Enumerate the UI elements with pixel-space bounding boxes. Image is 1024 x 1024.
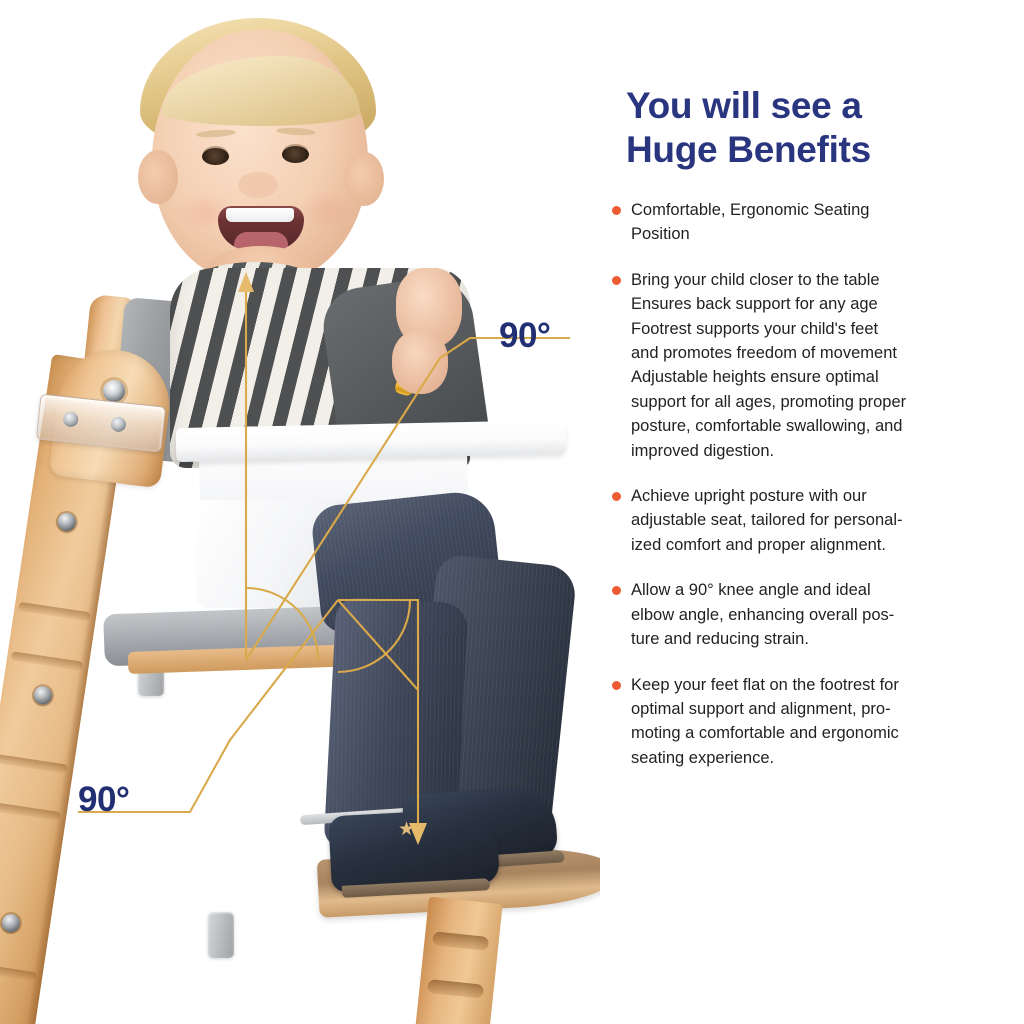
bracket-bolt-left — [62, 411, 78, 427]
seat-slider-clip-lower — [208, 912, 234, 958]
photo-stage: ★ — [0, 0, 600, 1024]
chair-front-leg — [411, 897, 502, 1024]
angle-label-knee: 90° — [78, 780, 129, 820]
boot-star-icon: ★ — [398, 820, 415, 839]
benefit-item-1: Comfortable, Ergonomic Seating Position — [612, 198, 962, 247]
front-leg-notch-1 — [432, 931, 489, 951]
infographic-page: ★ — [0, 0, 1024, 1024]
child-hand-lower — [392, 330, 448, 394]
benefit-text-2: Bring your child closer to the table Ens… — [631, 268, 962, 463]
product-photo: ★ — [0, 0, 600, 1024]
benefits-panel: You will see a Huge Benefits Comfortable… — [612, 84, 962, 791]
back-post-screw-lower — [1, 913, 21, 933]
front-leg-notch-2 — [427, 979, 484, 999]
bullet-dot-icon — [612, 206, 621, 215]
back-post-slot-3 — [0, 754, 68, 774]
bracket-bolt-right — [110, 416, 126, 432]
back-post-screw-upper — [57, 512, 77, 532]
chair-tray — [176, 420, 567, 462]
back-post-screw-mid — [33, 685, 53, 705]
benefit-text-1: Comfortable, Ergonomic Seating Position — [631, 198, 962, 247]
back-post-slot-1 — [18, 602, 91, 622]
bullet-dot-icon — [612, 492, 621, 501]
benefit-item-5: Keep your feet flat on the footrest for … — [612, 673, 962, 771]
back-post-slot-5 — [0, 962, 37, 982]
child-teeth — [226, 208, 294, 222]
child-nose — [238, 172, 278, 198]
angle-label-elbow: 90° — [499, 316, 550, 356]
child-ear-left — [138, 150, 178, 204]
benefit-text-5: Keep your feet flat on the footrest for … — [631, 673, 962, 771]
child-cheek-right — [300, 190, 356, 230]
bullet-dot-icon — [612, 276, 621, 285]
back-post-slot-4 — [0, 802, 61, 822]
benefit-item-2: Bring your child closer to the table Ens… — [612, 268, 962, 463]
child-eye-left — [202, 148, 229, 165]
back-post-slot-2 — [11, 651, 84, 671]
benefit-text-3: Achieve upright posture with our adjusta… — [631, 484, 962, 557]
bullet-dot-icon — [612, 586, 621, 595]
benefit-item-4: Allow a 90° knee angle and ideal elbow a… — [612, 578, 962, 651]
benefit-item-3: Achieve upright posture with our adjusta… — [612, 484, 962, 557]
bullet-dot-icon — [612, 681, 621, 690]
child-mouth — [218, 206, 304, 250]
child-eye-right — [282, 146, 309, 163]
benefit-text-4: Allow a 90° knee angle and ideal elbow a… — [631, 578, 962, 651]
benefits-heading: You will see a Huge Benefits — [626, 84, 962, 172]
